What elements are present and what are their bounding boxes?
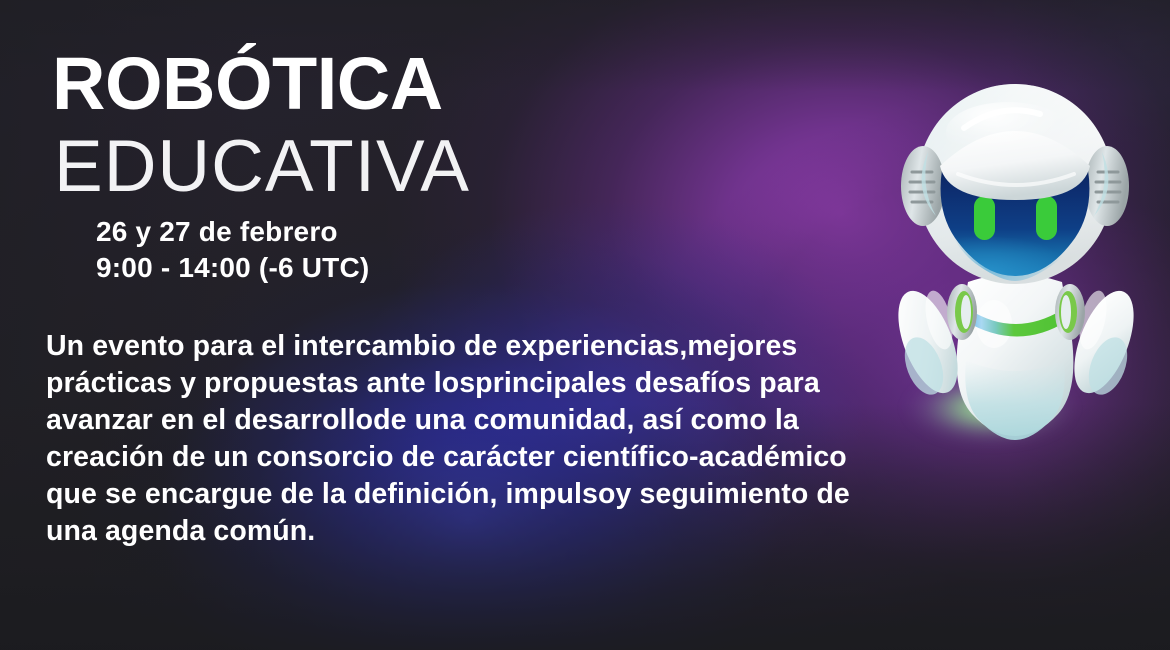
description-line: creación de un consorcio de carácter cie…	[46, 439, 946, 476]
description-line: Un evento para el intercambio de experie…	[46, 328, 946, 365]
robot-mascot-icon	[866, 74, 1166, 454]
robot-eye-left	[974, 196, 995, 240]
page-title: ROBÓTICA	[52, 47, 443, 121]
poster-canvas: ROBÓTICA EDUCATIVA 26 y 27 de febrero 9:…	[0, 0, 1170, 650]
description-line: una agenda común.	[46, 513, 946, 550]
event-schedule: 26 y 27 de febrero 9:00 - 14:00 (-6 UTC)	[96, 214, 369, 286]
robot-shoulder-right	[1055, 284, 1085, 340]
text-column: ROBÓTICA EDUCATIVA 26 y 27 de febrero 9:…	[0, 0, 930, 650]
description-line: que se encargue de la definición, impuls…	[46, 476, 946, 513]
robot-eye-right	[1036, 196, 1057, 240]
robot-body-lower	[965, 360, 1065, 440]
description-line: avanzar en el desarrollode una comunidad…	[46, 402, 946, 439]
event-date: 26 y 27 de febrero	[96, 214, 369, 250]
event-description: Un evento para el intercambio de experie…	[46, 328, 946, 550]
robot-shoulder-left	[947, 284, 977, 340]
page-subtitle: EDUCATIVA	[54, 130, 470, 203]
event-time: 9:00 - 14:00 (-6 UTC)	[96, 250, 369, 286]
description-line: prácticas y propuestas ante losprincipal…	[46, 365, 946, 402]
